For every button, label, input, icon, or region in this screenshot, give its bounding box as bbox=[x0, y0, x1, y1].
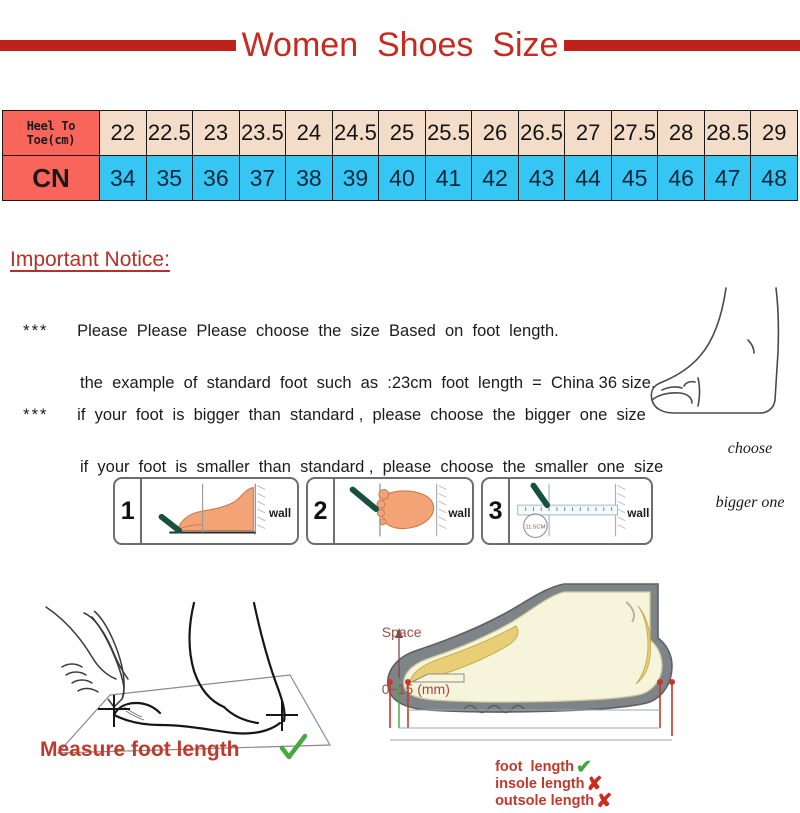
step-1-wall-label: wall bbox=[268, 507, 291, 520]
table-cell-cn: 45 bbox=[611, 156, 658, 201]
table-cell-cm: 26.5 bbox=[518, 111, 565, 156]
title-rule-left bbox=[0, 40, 236, 51]
table-cell-cn: 40 bbox=[379, 156, 426, 201]
table-cell-cn: 39 bbox=[332, 156, 379, 201]
table-cell-cn: 38 bbox=[286, 156, 333, 201]
check-icon bbox=[278, 733, 308, 763]
table-cell-cm: 22.5 bbox=[146, 111, 193, 156]
step-number-3: 3 bbox=[483, 479, 510, 543]
table-cell-cm: 23.5 bbox=[239, 111, 286, 156]
measure-foot-illustration bbox=[18, 575, 363, 765]
notice-bullet-stars: *** bbox=[23, 402, 77, 428]
space-label-line2: 0−15 (mm) bbox=[382, 681, 450, 697]
step-1-illustration: wall bbox=[142, 479, 296, 543]
page-title-bar: Women Shoes Size bbox=[0, 16, 800, 74]
space-gap-label: Space 0−15 (mm) bbox=[374, 604, 450, 699]
title-rule-right bbox=[564, 40, 800, 51]
table-cell-cn: 42 bbox=[472, 156, 519, 201]
choose-bigger-caption: choose bigger one bbox=[686, 422, 800, 512]
table-cell-cm: 25.5 bbox=[425, 111, 472, 156]
table-cell-cm: 27 bbox=[565, 111, 612, 156]
table-cell-cm: 27.5 bbox=[611, 111, 658, 156]
row-header-cn: CN bbox=[3, 156, 100, 201]
step-panel-1: 1 wall bbox=[113, 477, 299, 545]
step-panel-3: 3 wall bbox=[481, 477, 653, 545]
measure-foot-caption: Measure foot length bbox=[40, 738, 240, 762]
table-cell-cn: 43 bbox=[518, 156, 565, 201]
table-cell-cm: 25 bbox=[379, 111, 426, 156]
table-cell-cn: 48 bbox=[751, 156, 798, 201]
table-cell-cm: 24.5 bbox=[332, 111, 379, 156]
notice-line-2a: if your foot is bigger than standard , p… bbox=[77, 406, 646, 424]
size-conversion-table: Heel To Toe(cm) 22 22.5 23 23.5 24 24.5 … bbox=[2, 110, 798, 201]
step-number-1: 1 bbox=[115, 479, 142, 543]
step-3-illustration: wall 11.5CM bbox=[510, 479, 651, 543]
table-cell-cn: 37 bbox=[239, 156, 286, 201]
table-cell-cn: 47 bbox=[704, 156, 751, 201]
step-2-illustration: wall bbox=[335, 479, 472, 543]
table-cell-cm: 24 bbox=[286, 111, 333, 156]
choose-bigger-line2: bigger one bbox=[716, 494, 785, 511]
table-row-cn: CN 34 35 36 37 38 39 40 41 42 43 44 45 4… bbox=[3, 156, 798, 201]
table-cell-cm: 29 bbox=[751, 111, 798, 156]
table-cell-cm: 28.5 bbox=[704, 111, 751, 156]
page-title: Women Shoes Size bbox=[236, 28, 565, 62]
table-row-heel-to-toe: Heel To Toe(cm) 22 22.5 23 23.5 24 24.5 … bbox=[3, 111, 798, 156]
outsole-length-label-row: outsole length✘ bbox=[487, 774, 614, 813]
step-2-wall-label: wall bbox=[447, 507, 470, 520]
table-cell-cn: 41 bbox=[425, 156, 472, 201]
table-cell-cm: 23 bbox=[193, 111, 240, 156]
table-cell-cm: 28 bbox=[658, 111, 705, 156]
table-cell-cm: 26 bbox=[472, 111, 519, 156]
table-cell-cn: 34 bbox=[100, 156, 147, 201]
notice-bullet-stars: *** bbox=[23, 318, 77, 344]
table-cell-cn: 46 bbox=[658, 156, 705, 201]
space-label-line1: Space bbox=[382, 624, 422, 640]
table-cell-cm: 22 bbox=[100, 111, 147, 156]
table-cell-cn: 44 bbox=[565, 156, 612, 201]
outsole-length-label: outsole length bbox=[495, 793, 594, 809]
step-panel-2: 2 wall bbox=[306, 477, 474, 545]
row-header-heel-to-toe: Heel To Toe(cm) bbox=[3, 111, 100, 156]
step-3-wall-label: wall bbox=[627, 507, 650, 520]
table-cell-cn: 36 bbox=[193, 156, 240, 201]
notice-line-1a: Please Please Please choose the size Bas… bbox=[77, 322, 559, 340]
notice-heading: Important Notice: bbox=[10, 248, 170, 272]
step-3-ruler-badge: 11.5CM bbox=[526, 525, 546, 531]
cross-icon: ✘ bbox=[594, 790, 614, 813]
table-cell-cn: 35 bbox=[146, 156, 193, 201]
choose-bigger-line1: choose bbox=[728, 440, 772, 457]
measurement-steps: 1 wall 2 bbox=[113, 477, 653, 545]
step-number-2: 2 bbox=[308, 479, 335, 543]
